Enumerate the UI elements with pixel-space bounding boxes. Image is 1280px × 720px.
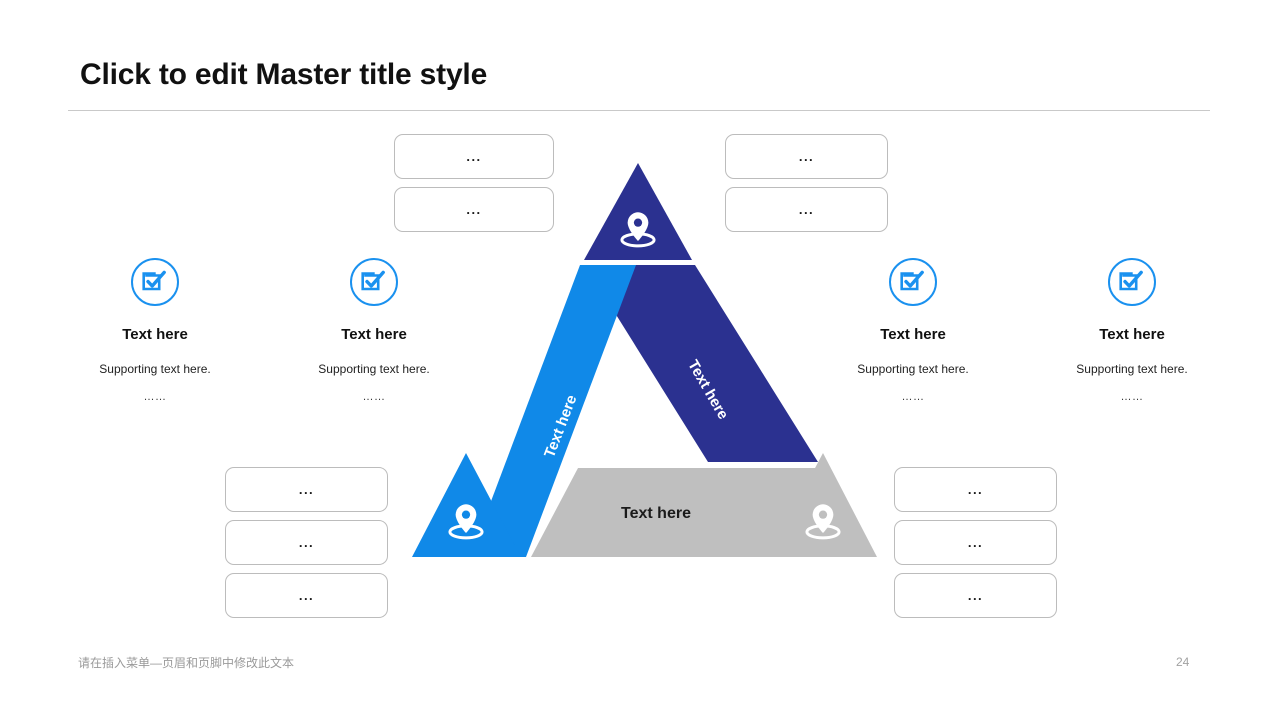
dots-box[interactable]: ... <box>225 467 388 512</box>
dots-box[interactable]: ... <box>394 187 554 232</box>
title-divider <box>68 110 1210 111</box>
text-block-1: Text here Supporting text here. …… <box>40 258 270 403</box>
page-title: Click to edit Master title style <box>80 58 487 92</box>
text-block-2: Text here Supporting text here. …… <box>259 258 489 403</box>
dots-box[interactable]: ... <box>225 520 388 565</box>
dots-box[interactable]: ... <box>894 520 1057 565</box>
dots-box[interactable]: ... <box>894 467 1057 512</box>
checkbox-checked-icon[interactable] <box>350 258 398 306</box>
dots-box[interactable]: ... <box>394 134 554 179</box>
segment-bottom-band-label: Text here <box>621 505 691 522</box>
text-block-support: Supporting text here. <box>1017 362 1247 376</box>
text-block-4: Text here Supporting text here. …… <box>1017 258 1247 403</box>
checkbox-checked-glyph <box>142 269 168 295</box>
text-block-3: Text here Supporting text here. …… <box>798 258 1028 403</box>
text-block-heading: Text here <box>1017 326 1247 343</box>
text-block-support: Supporting text here. <box>259 362 489 376</box>
text-block-dots: …… <box>259 391 489 403</box>
text-block-heading: Text here <box>40 326 270 343</box>
text-block-heading: Text here <box>259 326 489 343</box>
text-block-dots: …… <box>40 391 270 403</box>
checkbox-checked-icon[interactable] <box>131 258 179 306</box>
checkbox-checked-icon[interactable] <box>1108 258 1156 306</box>
checkbox-checked-glyph <box>900 269 926 295</box>
text-block-support: Supporting text here. <box>798 362 1028 376</box>
dots-box[interactable]: ... <box>894 573 1057 618</box>
checkbox-checked-glyph <box>361 269 387 295</box>
dots-box[interactable]: ... <box>725 187 888 232</box>
text-block-heading: Text here <box>798 326 1028 343</box>
text-block-dots: …… <box>798 391 1028 403</box>
dots-box[interactable]: ... <box>225 573 388 618</box>
text-block-support: Supporting text here. <box>40 362 270 376</box>
footer-text: 请在插入菜单—页眉和页脚中修改此文本 <box>78 654 294 671</box>
checkbox-checked-glyph <box>1119 269 1145 295</box>
checkbox-checked-icon[interactable] <box>889 258 937 306</box>
dots-box[interactable]: ... <box>725 134 888 179</box>
page-number: 24 <box>1176 655 1189 669</box>
text-block-dots: …… <box>1017 391 1247 403</box>
